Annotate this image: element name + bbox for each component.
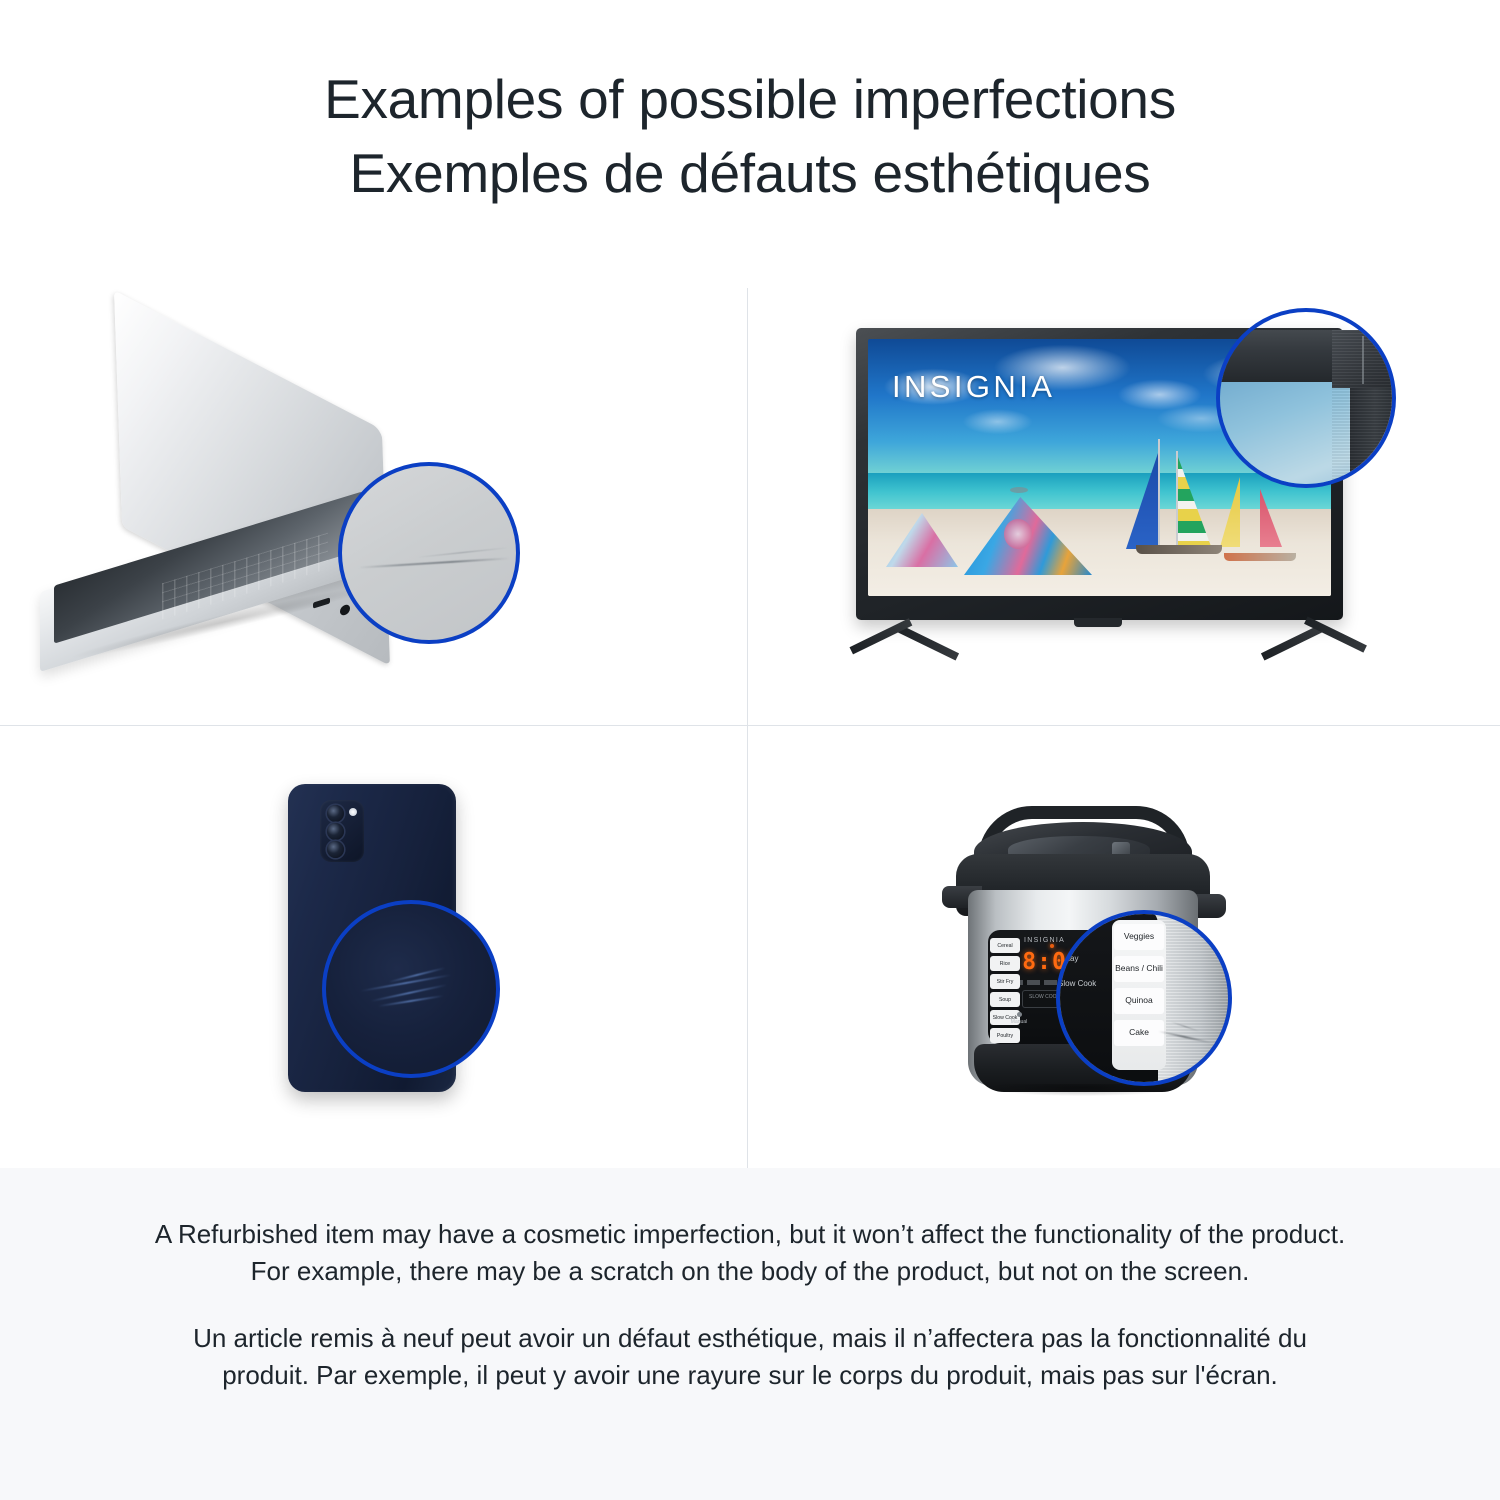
tv-screen-boat-2 [1224,553,1296,561]
cooker-magnified-left-labels: Delay Slow Cook [1058,954,1102,988]
cooker-button[interactable]: Cake [1114,1020,1164,1046]
tv-screen-rock [1010,487,1028,493]
smartphone-illustration [270,784,510,1114]
example-cell-television: INSIGNIA [748,288,1500,726]
camera-lens-icon [327,805,344,822]
tv-magnified-grain [1332,330,1396,488]
cooker-button[interactable]: Soup [990,992,1020,1007]
cooker-button[interactable]: Beans / Chili [1114,956,1164,982]
example-cell-pressure-cooker: INSIGNIA 8:00 SLOW COOK Cereal Rice Stir… [748,726,1500,1168]
example-cell-smartphone [0,726,748,1168]
camera-flash-icon [349,808,357,816]
camera-lens-icon [327,823,344,840]
tv-ir-receiver-icon [1074,618,1122,627]
magnifier-phone-scratches [322,900,500,1078]
cooker-brand-label: INSIGNIA [1024,937,1065,944]
tv-leg-right-a [1261,624,1324,660]
tv-screen-mast-2 [1176,451,1178,551]
scratch-mark [1362,336,1364,384]
television-illustration: INSIGNIA [856,308,1361,668]
footer-paragraph-english: A Refurbished item may have a cosmetic i… [150,1216,1350,1290]
cooker-button[interactable]: Quinoa [1114,988,1164,1014]
cooker-button[interactable]: Stir Fry [990,974,1020,989]
laptop-illustration [40,362,460,652]
cooker-button-label: Slow Cook [1058,979,1102,988]
pressure-cooker-illustration: INSIGNIA 8:00 SLOW COOK Cereal Rice Stir… [916,772,1276,1122]
tv-screen-mast-1 [1158,439,1160,554]
camera-lens-icon [327,841,344,858]
tv-leg-left-b [850,618,913,654]
footer-description: A Refurbished item may have a cosmetic i… [0,1168,1500,1500]
title-line-english: Examples of possible imperfections [0,62,1500,136]
tv-leg-left-a [896,624,959,660]
cooker-button-indicator-icon [1017,1012,1022,1017]
magnifier-cooker-scratch: Delay Slow Cook Veggies Beans / Chili Qu… [1056,910,1232,1086]
cooker-button-label: Manual [1011,1019,1027,1025]
cooker-button-label: Delay [1058,954,1102,963]
cooker-status-dot-icon [1050,944,1054,948]
refurbished-imperfections-infographic: Examples of possible imperfections Exemp… [0,0,1500,1500]
product-examples-grid: INSIGNIA [0,288,1500,1168]
magnifier-laptop-scratch [338,462,520,644]
page-title: Examples of possible imperfections Exemp… [0,62,1500,210]
cooker-button[interactable]: Rice [990,956,1020,971]
phone-camera-module [320,800,364,862]
footer-paragraph-french: Un article remis à neuf peut avoir un dé… [150,1320,1350,1394]
cooker-button[interactable]: Manual [1006,1012,1032,1031]
tv-screen-brand-logo: INSIGNIA [892,369,1055,405]
cooker-button[interactable]: Veggies [1114,924,1164,950]
scratch-mark [358,557,510,568]
tv-screen-boat-1 [1136,545,1222,554]
cooker-magnified-button-strip: Veggies Beans / Chili Quinoa Cake [1112,920,1166,1070]
cooker-button[interactable]: Cereal [990,938,1020,953]
title-line-french: Exemples de défauts esthétiques [0,136,1500,210]
scratch-mark-secondary [416,547,510,558]
magnifier-tv-bezel-scuff [1216,308,1396,488]
example-cell-laptop [0,288,748,726]
